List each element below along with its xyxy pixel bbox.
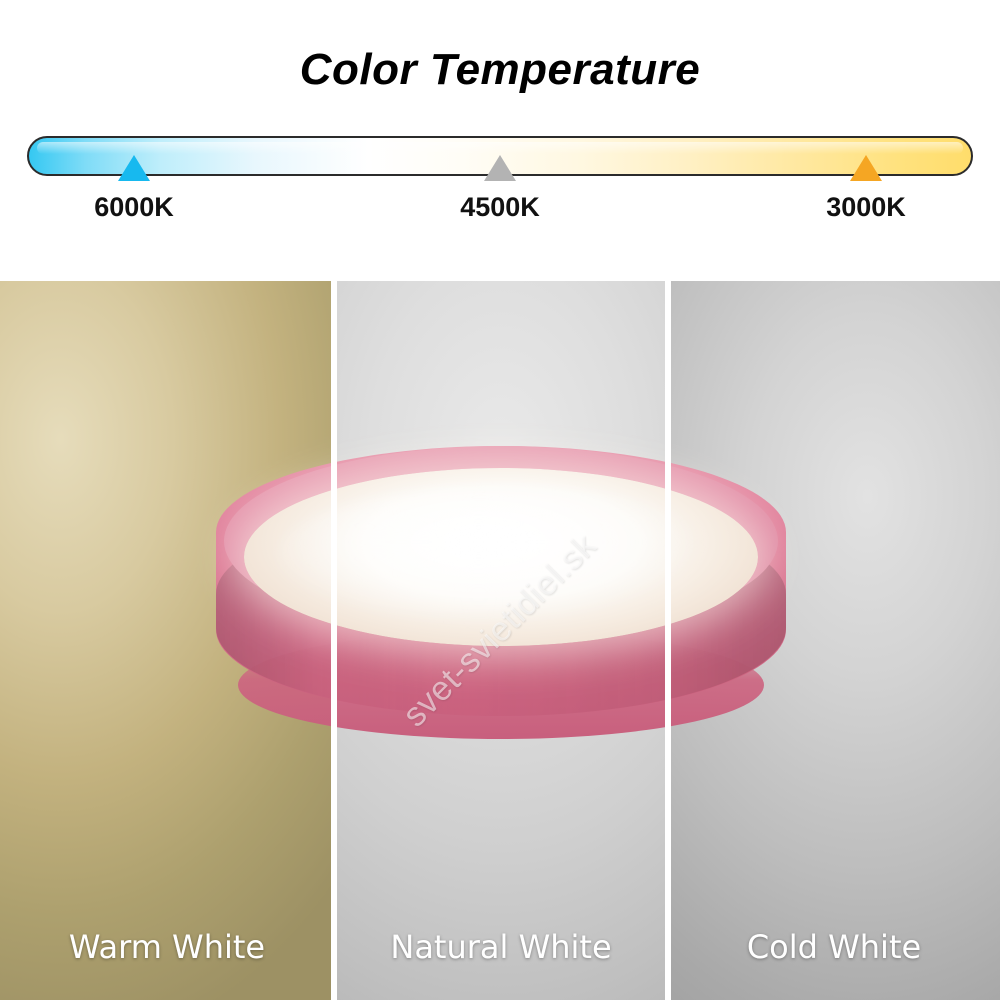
marker-3000k-icon xyxy=(850,155,882,181)
panel-warm-background xyxy=(0,281,334,1000)
panel-cold-background xyxy=(668,281,1000,1000)
tick-label-3000k: 3000K xyxy=(766,192,966,223)
tick-label-4500k: 4500K xyxy=(400,192,600,223)
marker-4500k-icon xyxy=(484,155,516,181)
page-title: Color Temperature xyxy=(0,45,1000,95)
comparison-panels: Warm White Natural White Cold White svet… xyxy=(0,281,1000,1000)
panel-divider-2 xyxy=(665,281,671,1000)
panel-divider-1 xyxy=(331,281,337,1000)
panel-label-cold-white: Cold White xyxy=(668,928,1000,966)
tick-label-6000k: 6000K xyxy=(34,192,234,223)
panel-cold-white: Cold White xyxy=(668,281,1000,1000)
panel-label-natural-white: Natural White xyxy=(334,928,668,966)
panel-natural-background xyxy=(334,281,668,1000)
marker-6000k-icon xyxy=(118,155,150,181)
panel-label-warm-white: Warm White xyxy=(0,928,334,966)
gradient-bar-gloss xyxy=(37,142,963,154)
panel-warm-white: Warm White xyxy=(0,281,334,1000)
product-image: Color Temperature 6000K 4500K 3000K Warm… xyxy=(0,0,1000,1000)
panel-natural-white: Natural White xyxy=(334,281,668,1000)
header-section: Color Temperature 6000K 4500K 3000K xyxy=(0,0,1000,281)
